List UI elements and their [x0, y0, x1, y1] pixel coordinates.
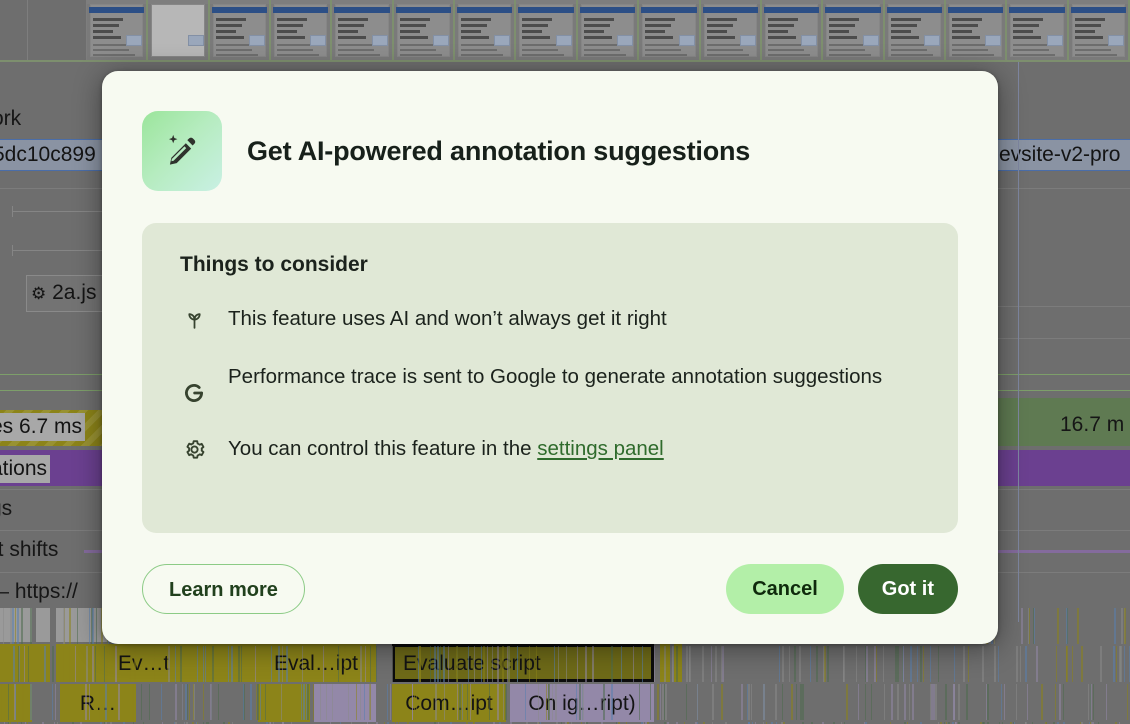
flame-speck [497, 646, 499, 682]
filmstrip-thumbnail[interactable] [1007, 0, 1068, 60]
flame-speck [77, 608, 78, 644]
flame-speck [430, 646, 431, 682]
flame-block[interactable]: R… [60, 684, 136, 722]
flame-speck [12, 608, 14, 644]
network-track-label: ork [0, 107, 21, 131]
flame-speck [228, 646, 229, 682]
filmstrip-thumbnail[interactable] [578, 0, 639, 60]
flame-speck [503, 684, 504, 720]
flame-speck [52, 646, 54, 682]
sprout-icon [180, 305, 208, 333]
ai-sparkle-pencil-icon [142, 111, 222, 191]
flame-speck [483, 646, 485, 682]
filmstrip-thumbnail[interactable] [885, 0, 946, 60]
flame-speck [1016, 684, 1017, 720]
filmstrip-thumbnail[interactable] [946, 0, 1007, 60]
flame-speck [1067, 608, 1068, 644]
flame-speck [106, 646, 108, 682]
flame-speck [508, 646, 510, 682]
flame-speck [392, 646, 393, 682]
flame-speck [17, 608, 19, 644]
flame-speck [197, 646, 198, 682]
flame-speck [474, 684, 475, 720]
flame-speck [779, 646, 780, 682]
flame-speck [314, 684, 315, 720]
flame-speck [1114, 608, 1116, 644]
flame-speck [387, 684, 388, 720]
flame-speck [1124, 608, 1126, 644]
dialog-title: Get AI-powered annotation suggestions [247, 136, 750, 167]
flame-speck [611, 646, 613, 682]
flame-speck [301, 684, 302, 720]
flame-speck [954, 646, 955, 682]
filmstrip-thumbnail[interactable] [639, 0, 700, 60]
filmstrip-thumbnail[interactable] [823, 0, 884, 60]
filmstrip-thumbnail[interactable] [394, 0, 455, 60]
flame-speck [865, 646, 866, 682]
flame-speck [816, 646, 818, 682]
flame-speck [824, 646, 826, 682]
flame-speck [536, 646, 537, 682]
flame-speck [75, 646, 76, 682]
flame-speck [307, 684, 309, 720]
flame-speck [1, 684, 2, 720]
flame-speck [99, 684, 100, 720]
flame-speck [257, 684, 259, 720]
flame-speck [203, 684, 204, 720]
timing-duration-left: es 6.7 ms [0, 413, 85, 441]
flame-speck [265, 684, 266, 720]
flame-speck [529, 646, 530, 682]
flame-speck [538, 684, 539, 720]
dialog-header: Get AI-powered annotation suggestions [142, 111, 958, 191]
flame-speck [141, 684, 142, 720]
google-g-icon [180, 379, 208, 407]
flame-speck [414, 684, 415, 720]
flame-speck [332, 684, 333, 720]
flame-speck [241, 646, 242, 682]
flame-speck [189, 684, 190, 720]
filmstrip-thumbnail[interactable] [210, 0, 271, 60]
flame-speck [748, 684, 750, 720]
flame-speck [799, 646, 801, 682]
flame-speck [722, 646, 724, 682]
flame-speck [660, 684, 661, 720]
filmstrip-thumbnail[interactable] [455, 0, 516, 60]
flame-speck [489, 684, 490, 720]
flame-speck [238, 646, 240, 682]
filmstrip-thumbnail[interactable] [332, 0, 393, 60]
flame-speck [63, 646, 64, 682]
flame-speck [621, 646, 622, 682]
flame-speck [577, 646, 578, 682]
flame-speck [664, 646, 666, 682]
filmstrip-thumbnail[interactable] [148, 0, 209, 60]
flame-speck [994, 646, 996, 682]
filmstrip-thumbnail[interactable] [1069, 0, 1130, 60]
flame-speck [1088, 684, 1089, 720]
flame-speck [789, 646, 790, 682]
ai-annotation-consent-dialog: Get AI-powered annotation suggestions Th… [102, 71, 998, 644]
flame-speck [19, 646, 20, 682]
flame-speck [302, 646, 303, 682]
flame-speck [52, 684, 53, 720]
flame-speck [348, 684, 349, 720]
flame-speck [260, 684, 261, 720]
flame-speck [912, 684, 914, 720]
flame-speck [205, 646, 206, 682]
flame-speck [1016, 646, 1018, 682]
flame-speck [15, 608, 16, 644]
flame-speck [250, 684, 252, 720]
flame-speck [149, 684, 150, 720]
flame-speck [930, 646, 931, 682]
flame-speck [271, 646, 272, 682]
filmstrip-thumbnail[interactable] [701, 0, 762, 60]
flame-speck [30, 608, 32, 644]
flame-speck [871, 684, 872, 720]
flame-speck [576, 684, 577, 720]
flame-speck [95, 646, 96, 682]
flame-speck [909, 684, 910, 720]
flame-speck [474, 646, 475, 682]
flame-speck [579, 684, 581, 720]
flame-speck [715, 646, 717, 682]
flame-speck [548, 684, 550, 720]
flame-speck [481, 646, 482, 682]
flame-speck [92, 608, 94, 644]
flame-speck [1127, 684, 1128, 720]
flame-speck [686, 646, 688, 682]
flame-speck [85, 684, 87, 720]
flame-speck [1027, 684, 1028, 720]
flame-speck [15, 684, 16, 720]
flame-speck [865, 684, 866, 720]
flame-speck [69, 646, 70, 682]
flame-speck [611, 684, 613, 720]
flame-speck [255, 646, 256, 682]
flame-speck [360, 684, 361, 720]
flame-row[interactable]: R… Com…ipt On ig…ript) [0, 684, 1130, 722]
flame-speck [21, 608, 23, 644]
flame-speck [938, 646, 939, 682]
flame-speck [104, 646, 105, 682]
flame-speck [945, 684, 947, 720]
settings-panel-link[interactable]: settings panel [537, 437, 664, 460]
flame-speck [132, 684, 134, 720]
learn-more-button[interactable]: Learn more [142, 564, 305, 614]
flame-speck [827, 646, 829, 682]
cancel-button[interactable]: Cancel [726, 564, 844, 614]
flame-speck [1093, 684, 1094, 720]
flame-speck [487, 646, 488, 682]
flame-speck [437, 646, 439, 682]
flame-speck [462, 684, 463, 720]
flame-speck [1056, 646, 1057, 682]
flame-speck [953, 684, 955, 720]
flame-speck [1021, 608, 1023, 644]
flame-speck [1029, 608, 1030, 644]
list-item-text-before: You can control this feature in the [228, 437, 537, 460]
filmstrip-gap [28, 0, 87, 60]
filmstrip-thumbnail[interactable] [762, 0, 823, 60]
list-item-text: This feature uses AI and won’t always ge… [228, 303, 667, 335]
timing-row-label-5: — https:// [0, 580, 78, 604]
flame-speck [1106, 684, 1107, 720]
gear-icon [180, 435, 208, 463]
dialog-footer: Learn more Cancel Got it [142, 564, 958, 614]
flame-speck [721, 684, 723, 720]
flame-speck [370, 646, 371, 682]
flame-speck [554, 646, 555, 682]
timing-duration-right: 16.7 m [1060, 413, 1124, 437]
flame-speck [633, 646, 634, 682]
flame-speck [3, 608, 4, 644]
flame-speck [459, 684, 461, 720]
flame-speck [998, 646, 999, 682]
flame-speck [802, 684, 804, 720]
flame-speck [282, 646, 283, 682]
script-event-chip[interactable]: ⚙ 2a.js [26, 275, 105, 312]
flame-speck [1121, 608, 1123, 644]
flame-speck [243, 684, 244, 720]
flame-speck [866, 646, 868, 682]
flame-speck [502, 646, 504, 682]
flame-speck [810, 646, 811, 682]
flame-speck [1025, 646, 1027, 682]
flame-speck [435, 684, 437, 720]
flame-speck [420, 646, 421, 682]
flame-speck [13, 646, 15, 682]
flame-speck [168, 646, 170, 682]
flame-speck [497, 684, 499, 720]
flame-speck [115, 646, 117, 682]
flame-speck [443, 646, 445, 682]
flame-speck [558, 646, 559, 682]
network-request-bar-right[interactable]: evsite-v2-pro [996, 139, 1130, 171]
flame-speck [897, 684, 899, 720]
flame-speck [105, 684, 107, 720]
flame-speck [1059, 684, 1061, 720]
flame-speck [55, 684, 56, 720]
flame-speck [1124, 646, 1125, 682]
flame-speck [1090, 684, 1091, 720]
flame-speck [69, 608, 71, 644]
flame-block[interactable]: Eval…ipt [256, 644, 376, 682]
flame-speck [654, 646, 655, 682]
flame-speck [210, 684, 212, 720]
flame-speck [712, 684, 714, 720]
flame-speck [920, 646, 922, 682]
flame-speck [180, 646, 182, 682]
flame-speck [642, 646, 643, 682]
dialog-action-buttons: Cancel Got it [726, 564, 958, 614]
flame-speck [467, 684, 468, 720]
flame-speck [440, 646, 441, 682]
flame-speck [1063, 684, 1064, 720]
card-heading: Things to consider [180, 253, 920, 277]
flame-speck [546, 684, 547, 720]
flame-speck [592, 646, 594, 682]
flame-speck [218, 684, 219, 720]
list-item: This feature uses AI and won’t always ge… [180, 303, 920, 335]
flame-speck [130, 646, 131, 682]
flame-speck [664, 684, 665, 720]
flame-speck [457, 684, 458, 720]
flame-speck [782, 646, 784, 682]
flame-speck [175, 646, 176, 682]
flame-speck [8, 684, 9, 720]
flame-speck [231, 646, 233, 682]
flame-speck [89, 608, 90, 644]
flame-speck [897, 646, 899, 682]
flame-speck [44, 646, 46, 682]
flame-speck [365, 646, 366, 682]
flame-speck [689, 646, 691, 682]
flame-speck [492, 646, 493, 682]
flame-speck [932, 684, 934, 720]
flame-speck [555, 684, 557, 720]
flame-speck [505, 684, 507, 720]
flame-speck [1077, 608, 1079, 644]
flame-speck [339, 646, 341, 682]
flame-speck [843, 646, 845, 682]
flame-speck [902, 646, 903, 682]
flame-speck [89, 684, 90, 720]
flame-speck [968, 646, 969, 682]
flame-speck [910, 646, 912, 682]
flame-speck [721, 646, 722, 682]
flame-speck [86, 646, 88, 682]
flame-speck [1100, 646, 1102, 682]
flame-speck [1041, 684, 1043, 720]
timing-row-label-4: ut shifts [0, 538, 58, 562]
flame-speck [161, 684, 162, 720]
list-item-text: Performance trace is sent to Google to g… [228, 361, 882, 393]
flame-speck [212, 646, 214, 682]
list-item-text: You can control this feature in the sett… [228, 433, 664, 465]
flame-speck [28, 646, 29, 682]
flame-speck [376, 646, 377, 682]
flame-speck [325, 684, 326, 720]
flame-speck [525, 684, 526, 720]
flame-speck [193, 684, 194, 720]
flame-block-selected[interactable]: Evaluate script [392, 644, 654, 682]
flame-speck [856, 646, 857, 682]
flame-speck [416, 684, 417, 720]
flame-speck [1001, 684, 1002, 720]
flame-speck [444, 684, 445, 720]
flame-speck [278, 646, 280, 682]
flame-speck [552, 684, 553, 720]
flame-speck [182, 684, 183, 720]
flame-speck [434, 646, 436, 682]
flame-speck [982, 646, 984, 682]
things-to-consider-card: Things to consider This feature uses AI … [142, 223, 958, 533]
flame-speck [796, 684, 797, 720]
flame-speck [935, 684, 937, 720]
flame-speck [566, 646, 567, 682]
got-it-button[interactable]: Got it [858, 564, 958, 614]
flame-speck [1120, 646, 1122, 682]
flame-speck [344, 646, 346, 682]
flame-speck [958, 684, 960, 720]
flame-speck [1072, 646, 1073, 682]
flame-speck [418, 646, 419, 682]
flame-speck [1028, 608, 1029, 644]
filmstrip-track[interactable] [0, 0, 1130, 62]
flame-speck [1004, 684, 1005, 720]
flame-speck [154, 646, 155, 682]
flame-speck [782, 684, 783, 720]
flame-speck [203, 646, 204, 682]
flame-speck [697, 684, 698, 720]
flame-speck [884, 684, 885, 720]
flame-speck [470, 684, 471, 720]
flame-speck [966, 684, 968, 720]
flame-speck [1066, 646, 1067, 682]
flame-speck [281, 684, 282, 720]
list-item: You can control this feature in the sett… [180, 433, 920, 465]
filmstrip-thumbnail[interactable] [87, 0, 148, 60]
flame-speck [917, 646, 918, 682]
flame-speck [369, 684, 370, 720]
flame-speck [118, 684, 120, 720]
flame-speck [286, 646, 288, 682]
flame-speck [514, 684, 515, 720]
flame-speck [313, 684, 314, 720]
flame-speck [1036, 646, 1038, 682]
flame-speck [963, 646, 965, 682]
flame-speck [356, 684, 357, 720]
flame-speck [306, 684, 307, 720]
flame-speck [412, 684, 413, 720]
flame-speck [1081, 646, 1083, 682]
flame-speck [794, 646, 796, 682]
flame-speck [904, 684, 906, 720]
flame-speck [650, 684, 651, 720]
flame-speck [1057, 608, 1059, 644]
flame-speck [360, 646, 362, 682]
flame-speck [639, 684, 640, 720]
filmstrip-thumbnail[interactable] [516, 0, 577, 60]
filmstrip-gap [0, 0, 28, 60]
filmstrip-thumbnail[interactable] [271, 0, 332, 60]
flame-speck [92, 646, 94, 682]
flame-speck [751, 684, 752, 720]
flame-speck [702, 646, 704, 682]
flame-speck [603, 684, 605, 720]
flame-speck [63, 608, 65, 644]
timing-band-animations: ations [0, 455, 50, 483]
flame-speck [326, 684, 327, 720]
flame-speck [876, 646, 877, 682]
flame-speck [662, 684, 664, 720]
flame-speck [456, 646, 458, 682]
flame-speck [517, 646, 518, 682]
flame-speck [711, 646, 712, 682]
flame-speck [96, 608, 97, 644]
gear-icon: ⚙ [31, 284, 46, 303]
flame-speck [320, 684, 321, 720]
flame-speck [923, 646, 924, 682]
flame-speck [448, 646, 449, 682]
flame-speck [1055, 684, 1056, 720]
flame-speck [364, 684, 365, 720]
flame-speck [665, 684, 667, 720]
flame-speck [22, 684, 24, 720]
flame-speck [468, 646, 469, 682]
